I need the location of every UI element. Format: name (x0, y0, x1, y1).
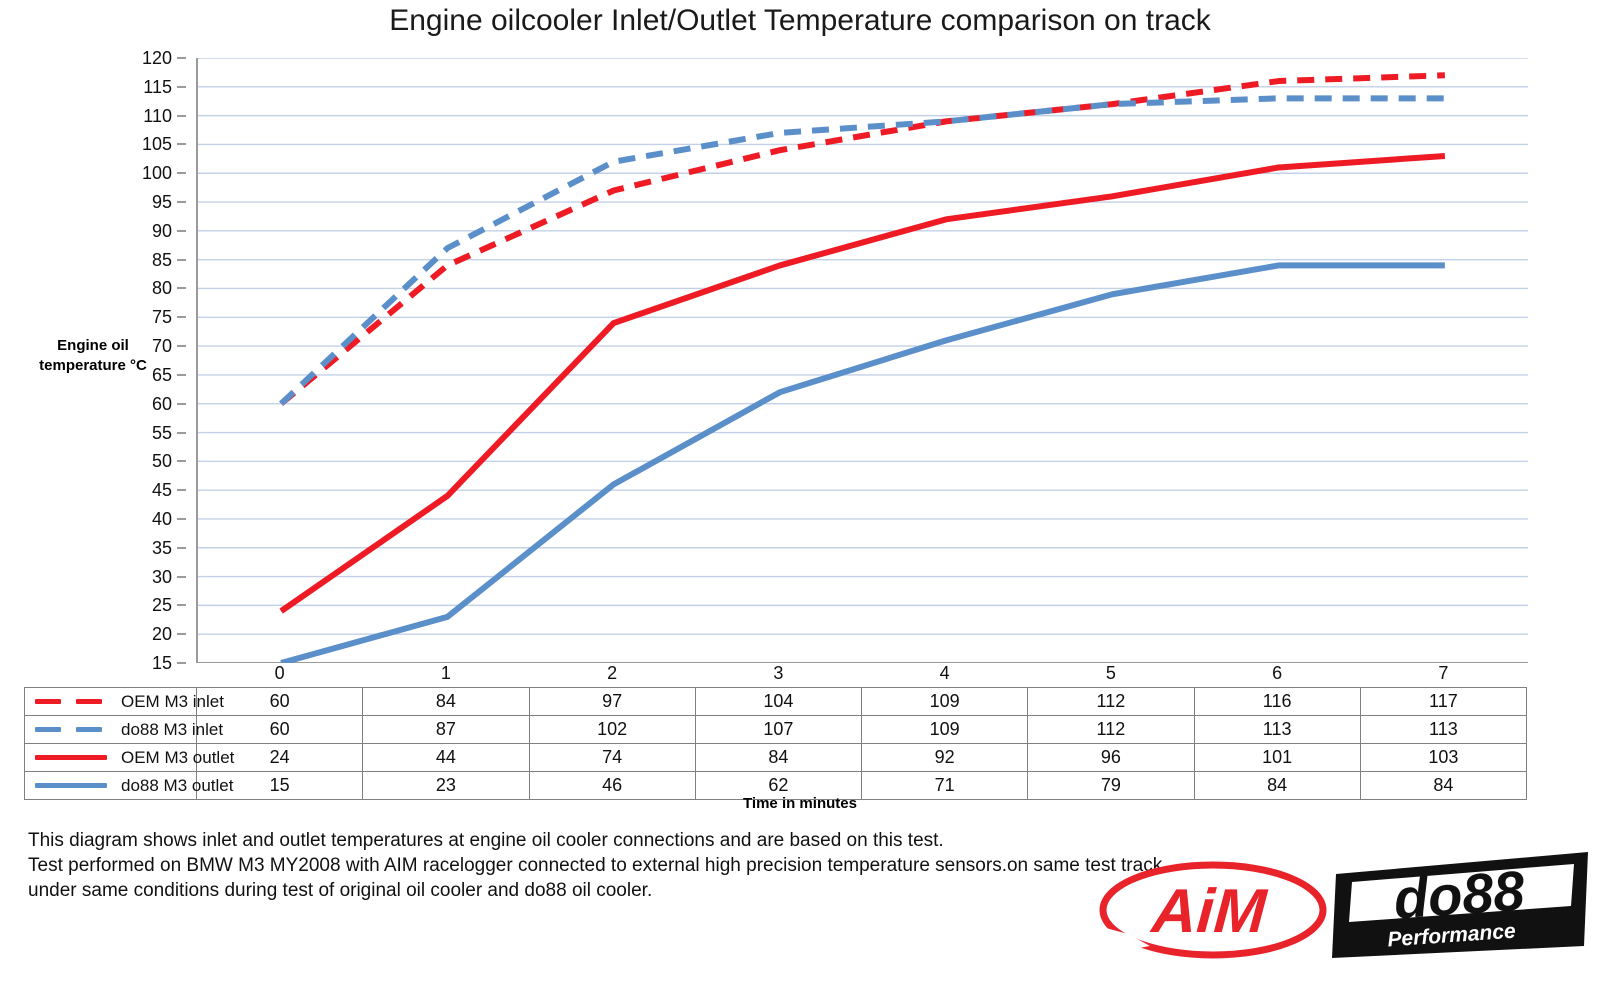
footer-line-3: under same conditions during test of ori… (28, 878, 1228, 903)
table-row: do88 M3 inlet6087102107109112113113 (25, 716, 1527, 744)
y-tick-label: 45 (152, 481, 172, 499)
y-tick-mark (177, 143, 186, 145)
table-cell: 101 (1194, 744, 1360, 772)
y-tick-label: 30 (152, 568, 172, 586)
footer-line-1: This diagram shows inlet and outlet temp… (28, 828, 1228, 853)
y-tick-mark (177, 547, 186, 549)
legend-label: do88 M3 inlet (121, 720, 223, 740)
y-tick-label: 75 (152, 308, 172, 326)
y-tick-mark (177, 345, 186, 347)
y-tick-label: 20 (152, 625, 172, 643)
table-column-header: 2 (529, 660, 695, 688)
table-cell: 84 (695, 744, 861, 772)
y-tick-mark (177, 576, 186, 578)
table-column-header: 0 (197, 660, 363, 688)
table-cell: 103 (1360, 744, 1526, 772)
legend-dash (35, 727, 61, 732)
y-tick-label: 95 (152, 193, 172, 211)
legend-line (35, 783, 107, 788)
table-cell: 44 (363, 744, 529, 772)
table-cell: 117 (1360, 688, 1526, 716)
table-row-header: do88 M3 inlet (25, 716, 197, 744)
y-tick-label: 110 (143, 107, 172, 125)
legend-swatch (31, 744, 121, 771)
y-tick-label: 65 (152, 366, 172, 384)
y-tick-mark (177, 374, 186, 376)
table-cell: 74 (529, 744, 695, 772)
plot-area (196, 58, 1526, 663)
plot-frame (196, 58, 1526, 663)
table-corner-cell (25, 660, 197, 688)
table-column-header: 3 (695, 660, 861, 688)
y-tick-label: 55 (152, 424, 172, 442)
table-cell: 109 (862, 688, 1028, 716)
y-tick-label: 120 (142, 49, 172, 67)
table-cell: 87 (363, 716, 529, 744)
table-column-header: 7 (1360, 660, 1526, 688)
y-tick-mark (177, 201, 186, 203)
table-header-row: 01234567 (25, 660, 1527, 688)
legend-swatch (31, 688, 121, 715)
y-tick-mark (177, 287, 186, 289)
y-tick-mark (177, 489, 186, 491)
y-tick-label: 60 (152, 395, 172, 413)
table-row: OEM M3 outlet244474849296101103 (25, 744, 1527, 772)
legend-swatch (31, 716, 121, 743)
y-tick-label: 90 (152, 222, 172, 240)
do88-logo: do88 Performance (1330, 846, 1592, 964)
y-tick-label: 85 (152, 251, 172, 269)
y-tick-label: 115 (143, 78, 172, 96)
y-tick-mark (177, 57, 186, 59)
table-cell: 102 (529, 716, 695, 744)
series-lines (198, 58, 1528, 663)
y-tick-mark (177, 259, 186, 261)
y-tick-label: 50 (152, 452, 172, 470)
aim-logo-text: AiM (1148, 877, 1270, 946)
table-cell: 92 (862, 744, 1028, 772)
table-cell: 116 (1194, 688, 1360, 716)
table-cell: 113 (1360, 716, 1526, 744)
legend-label: OEM M3 outlet (121, 748, 234, 768)
table-row-header: OEM M3 outlet (25, 744, 197, 772)
y-tick-mark (177, 518, 186, 520)
legend-line (35, 755, 107, 760)
y-tick-mark (177, 432, 186, 434)
y-tick-mark (177, 633, 186, 635)
y-tick-mark (177, 86, 186, 88)
y-tick-mark (177, 230, 186, 232)
table-column-header: 1 (363, 660, 529, 688)
table-row: OEM M3 inlet608497104109112116117 (25, 688, 1527, 716)
y-tick-mark (177, 604, 186, 606)
y-tick-label: 105 (142, 135, 172, 153)
table-cell: 84 (363, 688, 529, 716)
y-tick-mark (177, 316, 186, 318)
legend-dash (76, 699, 102, 704)
table-cell: 104 (695, 688, 861, 716)
y-tick-mark (177, 115, 186, 117)
table-cell: 112 (1028, 716, 1194, 744)
y-tick-label: 35 (152, 539, 172, 557)
table-cell: 107 (695, 716, 861, 744)
table-cell: 112 (1028, 688, 1194, 716)
footer-note: This diagram shows inlet and outlet temp… (28, 828, 1228, 903)
table-column-header: 6 (1194, 660, 1360, 688)
legend-label: do88 M3 outlet (121, 776, 233, 796)
table-column-header: 4 (862, 660, 1028, 688)
y-tick-label: 100 (142, 164, 172, 182)
table-cell: 113 (1194, 716, 1360, 744)
y-tick-label: 40 (152, 510, 172, 528)
legend-label: OEM M3 inlet (121, 692, 224, 712)
y-tick-mark (177, 172, 186, 174)
y-tick-label: 80 (152, 279, 172, 297)
y-tick-mark (177, 460, 186, 462)
data-table: 01234567OEM M3 inlet60849710410911211611… (24, 660, 1527, 800)
legend-dash (35, 699, 61, 704)
table-cell: 96 (1028, 744, 1194, 772)
y-tick-label: 70 (152, 337, 172, 355)
aim-logo: AiM (1098, 854, 1328, 964)
table-cell: 109 (862, 716, 1028, 744)
table-row-header: OEM M3 inlet (25, 688, 197, 716)
y-tick-label: 25 (152, 596, 172, 614)
footer-line-2: Test performed on BMW M3 MY2008 with AIM… (28, 853, 1228, 878)
x-axis-title: Time in minutes (0, 795, 1600, 812)
table-column-header: 5 (1028, 660, 1194, 688)
y-axis-labels: 1201151101051009590858075706560555045403… (0, 58, 186, 663)
y-tick-mark (177, 403, 186, 405)
table-cell: 97 (529, 688, 695, 716)
legend-dash (76, 727, 102, 732)
page-title: Engine oilcooler Inlet/Outlet Temperatur… (0, 4, 1600, 38)
